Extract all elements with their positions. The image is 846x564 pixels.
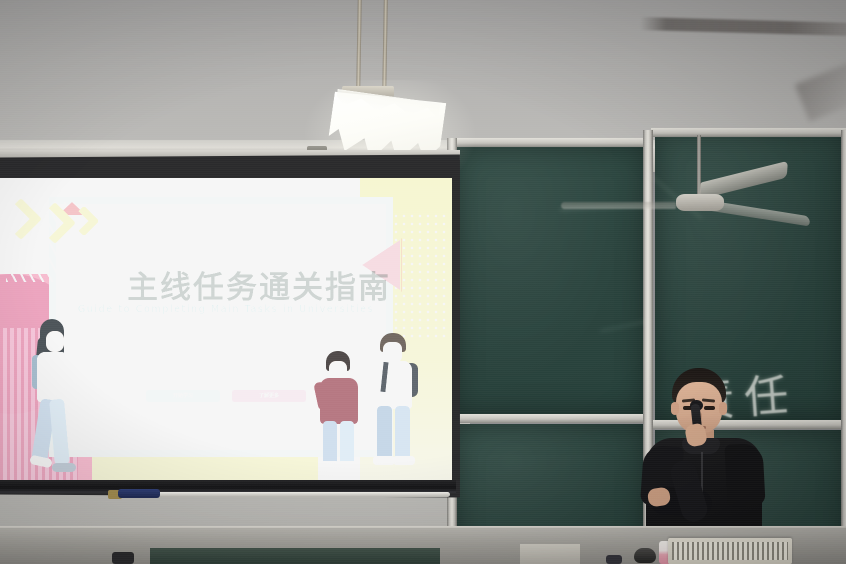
slide-title-accent: 大学 bbox=[61, 270, 127, 306]
desk-dark-object-1 bbox=[112, 552, 134, 564]
computer-keyboard bbox=[668, 538, 792, 564]
ceiling-fan-blade-3 bbox=[561, 202, 676, 209]
ceiling-fan-motor bbox=[676, 194, 724, 211]
screen-pull-handle bbox=[118, 489, 160, 498]
projection-screen-surface: 大学主线任务通关指南 Guide to Completing Main Task… bbox=[0, 178, 452, 481]
screen-roller-bar bbox=[110, 492, 450, 497]
chalkboard-frame-top-left bbox=[447, 138, 647, 147]
slide-illustration-male-student-red bbox=[314, 351, 366, 473]
classroom-photo: 责任 大学主线任 bbox=[0, 0, 846, 564]
chalkboard-frame-right bbox=[841, 130, 846, 564]
chalkboard-panel-1 bbox=[455, 146, 645, 414]
chalkboard-frame-top-right bbox=[651, 128, 846, 137]
slide-illustration-female-student bbox=[22, 319, 84, 477]
slide-subtitle: Guide to Completing Main Tasks in Univer… bbox=[0, 304, 452, 315]
slide-title-main: 主线任务通关指南 bbox=[127, 270, 391, 306]
slide-primary-button: 开始学习 bbox=[146, 390, 220, 402]
keyboard-keys bbox=[672, 542, 788, 560]
slide-illustration-male-student-white bbox=[366, 333, 422, 475]
presentation-slide: 大学主线任务通关指南 Guide to Completing Main Task… bbox=[0, 178, 452, 481]
slide-title: 大学主线任务通关指南 bbox=[0, 262, 452, 307]
desk-green-mat bbox=[150, 548, 440, 564]
computer-mouse bbox=[634, 548, 656, 563]
desk-dark-object-2 bbox=[606, 555, 622, 564]
desk-object bbox=[520, 544, 580, 564]
slide-secondary-button: 了解更多 bbox=[232, 390, 306, 402]
chalkboard-frame-mid-left bbox=[447, 414, 647, 423]
